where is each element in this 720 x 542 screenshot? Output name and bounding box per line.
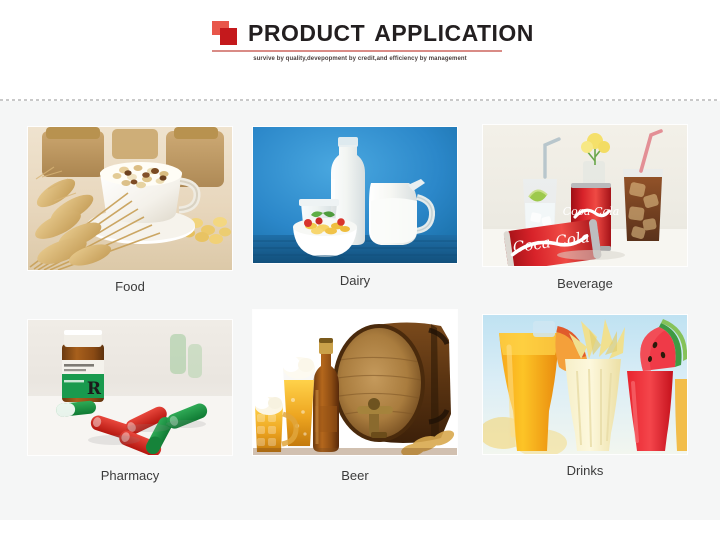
slide-root: PRODUCTAPPLICATION survive by quality,de…: [0, 0, 720, 542]
pharmacy-image: R: [28, 320, 232, 455]
thumbnail-drinks[interactable]: [483, 315, 687, 454]
content-panel: Food: [0, 101, 720, 520]
title-underline-rule: [212, 50, 502, 52]
card-pharmacy[interactable]: R: [28, 320, 232, 455]
svg-text:R: R: [87, 379, 102, 399]
card-label-beer: Beer: [253, 468, 457, 483]
two-red-squares-logo-icon: [212, 21, 242, 47]
title-block: PRODUCTAPPLICATION survive by quality,de…: [210, 18, 510, 62]
card-beer[interactable]: [253, 310, 457, 455]
card-beverage[interactable]: Coca-Cola Coca-Cola: [483, 125, 687, 266]
thumbnail-food[interactable]: [28, 127, 232, 270]
thumbnail-beverage[interactable]: Coca-Cola Coca-Cola: [483, 125, 687, 266]
header-subtitle: survive by quality,devepopment by credit…: [210, 56, 510, 62]
card-label-pharmacy: Pharmacy: [28, 468, 232, 483]
card-label-dairy: Dairy: [253, 273, 457, 288]
page-title-secondary: APPLICATION: [374, 20, 534, 46]
card-food[interactable]: [28, 127, 232, 270]
thumbnail-dairy[interactable]: [253, 127, 457, 263]
thumbnail-pharmacy[interactable]: R: [28, 320, 232, 455]
logo-square-front-icon: [220, 28, 237, 45]
card-drinks[interactable]: [483, 315, 687, 454]
card-label-drinks: Drinks: [483, 463, 687, 478]
card-label-food: Food: [28, 279, 232, 294]
product-application-grid: Food: [0, 101, 720, 520]
card-label-beverage: Beverage: [483, 276, 687, 291]
svg-text:Coca-Cola: Coca-Cola: [563, 205, 620, 218]
dairy-image: [253, 127, 457, 263]
page-title: PRODUCTAPPLICATION: [248, 19, 534, 47]
card-dairy[interactable]: [253, 127, 457, 263]
title-row: PRODUCTAPPLICATION: [210, 18, 510, 48]
thumbnail-beer[interactable]: [253, 310, 457, 455]
beer-image: [253, 310, 457, 455]
page-title-main: PRODUCT: [248, 20, 365, 46]
drinks-image: [483, 315, 687, 454]
slide-header: PRODUCTAPPLICATION survive by quality,de…: [0, 0, 720, 100]
beverage-image: Coca-Cola Coca-Cola: [483, 125, 687, 266]
food-image: [28, 127, 232, 270]
